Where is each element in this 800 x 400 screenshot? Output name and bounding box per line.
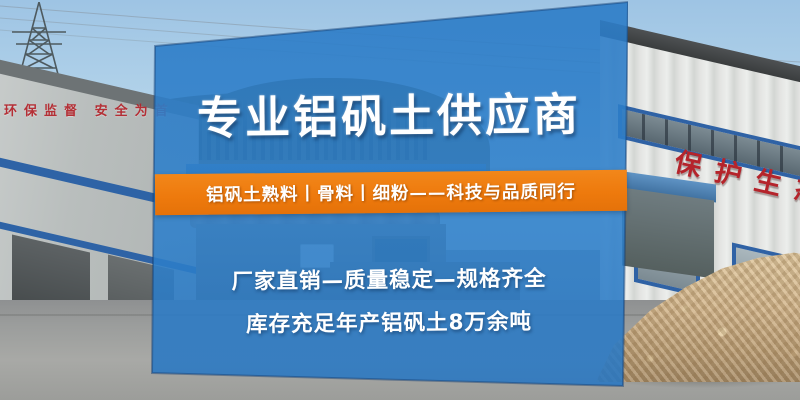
banner-subline-2: 库存充足年产铝矾土8万余吨 xyxy=(150,303,628,339)
far-shed-wall xyxy=(622,188,714,279)
banner-stage: 环保监督 安全为首 保护生态 xyxy=(0,0,800,400)
banner-content: 专业铝矾土供应商 铝矾土熟料丨骨料丨细粉——科技与品质同行 厂家直销—质量稳定—… xyxy=(150,0,628,400)
banner-subline-1: 厂家直销—质量稳定—规格齐全 xyxy=(150,260,628,296)
banner-headline: 专业铝矾土供应商 xyxy=(150,77,629,147)
orange-ribbon-text: 铝矾土熟料丨骨料丨细粉——科技与品质同行 xyxy=(206,178,576,207)
orange-ribbon: 铝矾土熟料丨骨料丨细粉——科技与品质同行 xyxy=(155,170,627,216)
